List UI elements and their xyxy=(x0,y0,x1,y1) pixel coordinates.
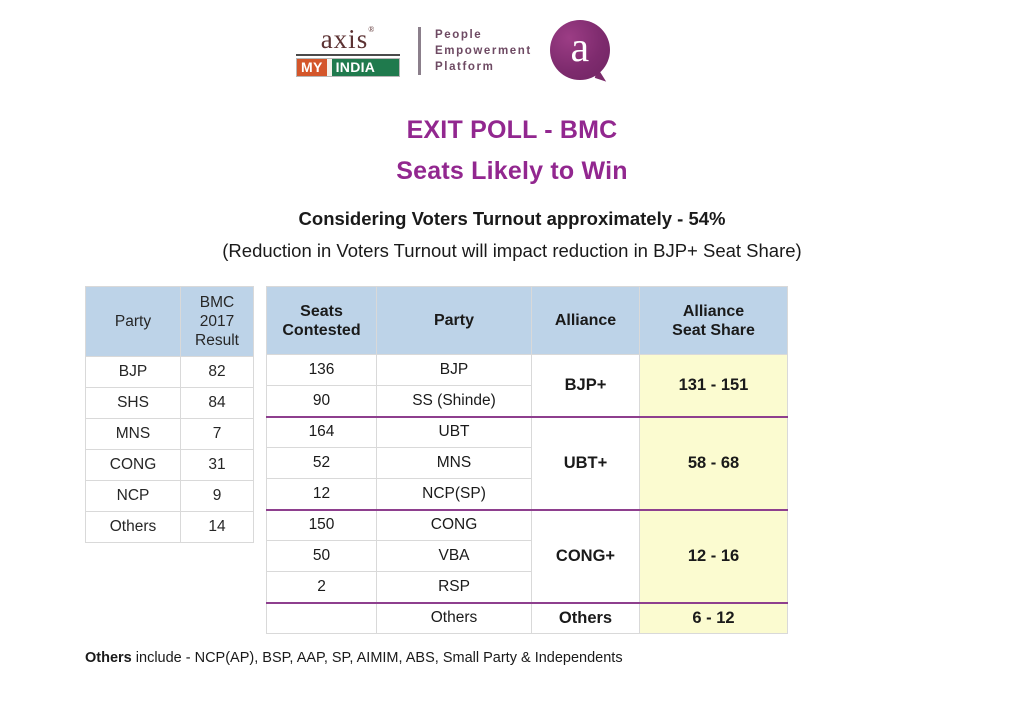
cell-alliance-seat-share: 131 - 151 xyxy=(640,355,788,417)
cell-result: 14 xyxy=(181,512,254,543)
table-row: 136 BJP BJP+ 131 - 151 xyxy=(267,355,788,386)
cell-party: CONG xyxy=(86,450,181,481)
table-row: Others14 xyxy=(86,512,254,543)
cell-alliance-seat-share: 12 - 16 xyxy=(640,510,788,603)
table-row: MNS7 xyxy=(86,419,254,450)
turnout-caveat: (Reduction in Voters Turnout will impact… xyxy=(0,240,1024,262)
header-alliance: Alliance xyxy=(532,287,640,355)
cell-seats-contested: 136 xyxy=(267,355,377,386)
cell-alliance: UBT+ xyxy=(532,417,640,510)
footer-note-text: include - NCP(AP), BSP, AAP, SP, AIMIM, … xyxy=(132,650,623,666)
cell-seats-contested: 50 xyxy=(267,541,377,572)
alliance-seat-share-table: Seats Contested Party Alliance Alliance … xyxy=(266,286,788,634)
cell-alliance-seat-share: 58 - 68 xyxy=(640,417,788,510)
cell-party: UBT xyxy=(377,417,532,448)
cell-party: NCP(SP) xyxy=(377,479,532,510)
main-table-body: 136 BJP BJP+ 131 - 151 90 SS (Shinde) 16… xyxy=(267,355,788,634)
cell-result: 9 xyxy=(181,481,254,512)
footer-note-label: Others xyxy=(85,650,132,666)
table-row: NCP9 xyxy=(86,481,254,512)
cell-party: CONG xyxy=(377,510,532,541)
cell-seats-contested: 90 xyxy=(267,386,377,417)
header-bmc-line-1: BMC xyxy=(181,293,253,312)
table-row: 164 UBT UBT+ 58 - 68 xyxy=(267,417,788,448)
cell-result: 84 xyxy=(181,388,254,419)
cell-party: VBA xyxy=(377,541,532,572)
table-row: Others Others 6 - 12 xyxy=(267,603,788,634)
badge-india-label: INDIA xyxy=(332,59,399,76)
badge-my-label: MY xyxy=(297,59,327,76)
footer-note: Others include - NCP(AP), BSP, AAP, SP, … xyxy=(85,650,623,666)
table-row: SHS84 xyxy=(86,388,254,419)
header-party: Party xyxy=(86,287,181,357)
registered-mark-icon: ® xyxy=(368,25,375,34)
speech-bubble-icon: a xyxy=(550,20,612,82)
cell-alliance: CONG+ xyxy=(532,510,640,603)
cell-result: 31 xyxy=(181,450,254,481)
cell-seats-contested xyxy=(267,603,377,634)
header-share-line-1: Alliance xyxy=(640,302,787,321)
header-bmc-line-3: Result xyxy=(181,331,253,350)
table-row: CONG31 xyxy=(86,450,254,481)
cell-party: MNS xyxy=(377,448,532,479)
header-seats-line-2: Contested xyxy=(267,321,376,340)
table-header-row: Seats Contested Party Alliance Alliance … xyxy=(267,287,788,355)
tagline-line-2: Empowerment xyxy=(435,43,532,59)
cell-seats-contested: 2 xyxy=(267,572,377,603)
bubble-letter-a: a xyxy=(550,20,610,80)
cell-seats-contested: 164 xyxy=(267,417,377,448)
cell-result: 82 xyxy=(181,357,254,388)
cell-alliance: BJP+ xyxy=(532,355,640,417)
exit-poll-slide: axis® MY INDIA People Empowerment Platfo… xyxy=(0,0,1024,704)
cell-party: Others xyxy=(377,603,532,634)
axis-my-india-logo: axis® MY INDIA xyxy=(296,26,400,77)
cell-seats-contested: 150 xyxy=(267,510,377,541)
cell-seats-contested: 12 xyxy=(267,479,377,510)
cell-party: BJP xyxy=(377,355,532,386)
table-row: 150 CONG CONG+ 12 - 16 xyxy=(267,510,788,541)
header-share-line-2: Seat Share xyxy=(640,321,787,340)
cell-seats-contested: 52 xyxy=(267,448,377,479)
logo-divider xyxy=(418,27,421,75)
cell-result: 7 xyxy=(181,419,254,450)
cell-party: BJP xyxy=(86,357,181,388)
table-header-row: Party BMC 2017 Result xyxy=(86,287,254,357)
cell-alliance-seat-share: 6 - 12 xyxy=(640,603,788,634)
header-bmc-line-2: 2017 xyxy=(181,312,253,331)
cell-party: SHS xyxy=(86,388,181,419)
cell-alliance: Others xyxy=(532,603,640,634)
turnout-note: Considering Voters Turnout approximately… xyxy=(0,208,1024,230)
bmc-2017-result-table: Party BMC 2017 Result BJP82 SHS84 MNS7 C… xyxy=(85,286,254,543)
cell-party: SS (Shinde) xyxy=(377,386,532,417)
header-bmc-2017-result: BMC 2017 Result xyxy=(181,287,254,357)
tagline-line-1: People xyxy=(435,27,532,43)
header-seats-contested: Seats Contested xyxy=(267,287,377,355)
axis-wordmark-text: axis xyxy=(321,24,369,54)
axis-wordmark: axis® xyxy=(296,26,400,56)
brand-logo: axis® MY INDIA People Empowerment Platfo… xyxy=(296,18,612,84)
page-subtitle: Seats Likely to Win xyxy=(0,157,1024,186)
cell-party: Others xyxy=(86,512,181,543)
tagline-line-3: Platform xyxy=(435,59,532,75)
table-row: BJP82 xyxy=(86,357,254,388)
cell-party: RSP xyxy=(377,572,532,603)
left-table-body: BJP82 SHS84 MNS7 CONG31 NCP9 Others14 xyxy=(86,357,254,543)
cell-party: MNS xyxy=(86,419,181,450)
page-title: EXIT POLL - BMC xyxy=(0,116,1024,145)
my-india-badge: MY INDIA xyxy=(296,58,400,77)
brand-tagline: People Empowerment Platform xyxy=(435,27,532,75)
header-seats-line-1: Seats xyxy=(267,302,376,321)
cell-party: NCP xyxy=(86,481,181,512)
header-party: Party xyxy=(377,287,532,355)
header-alliance-seat-share: Alliance Seat Share xyxy=(640,287,788,355)
